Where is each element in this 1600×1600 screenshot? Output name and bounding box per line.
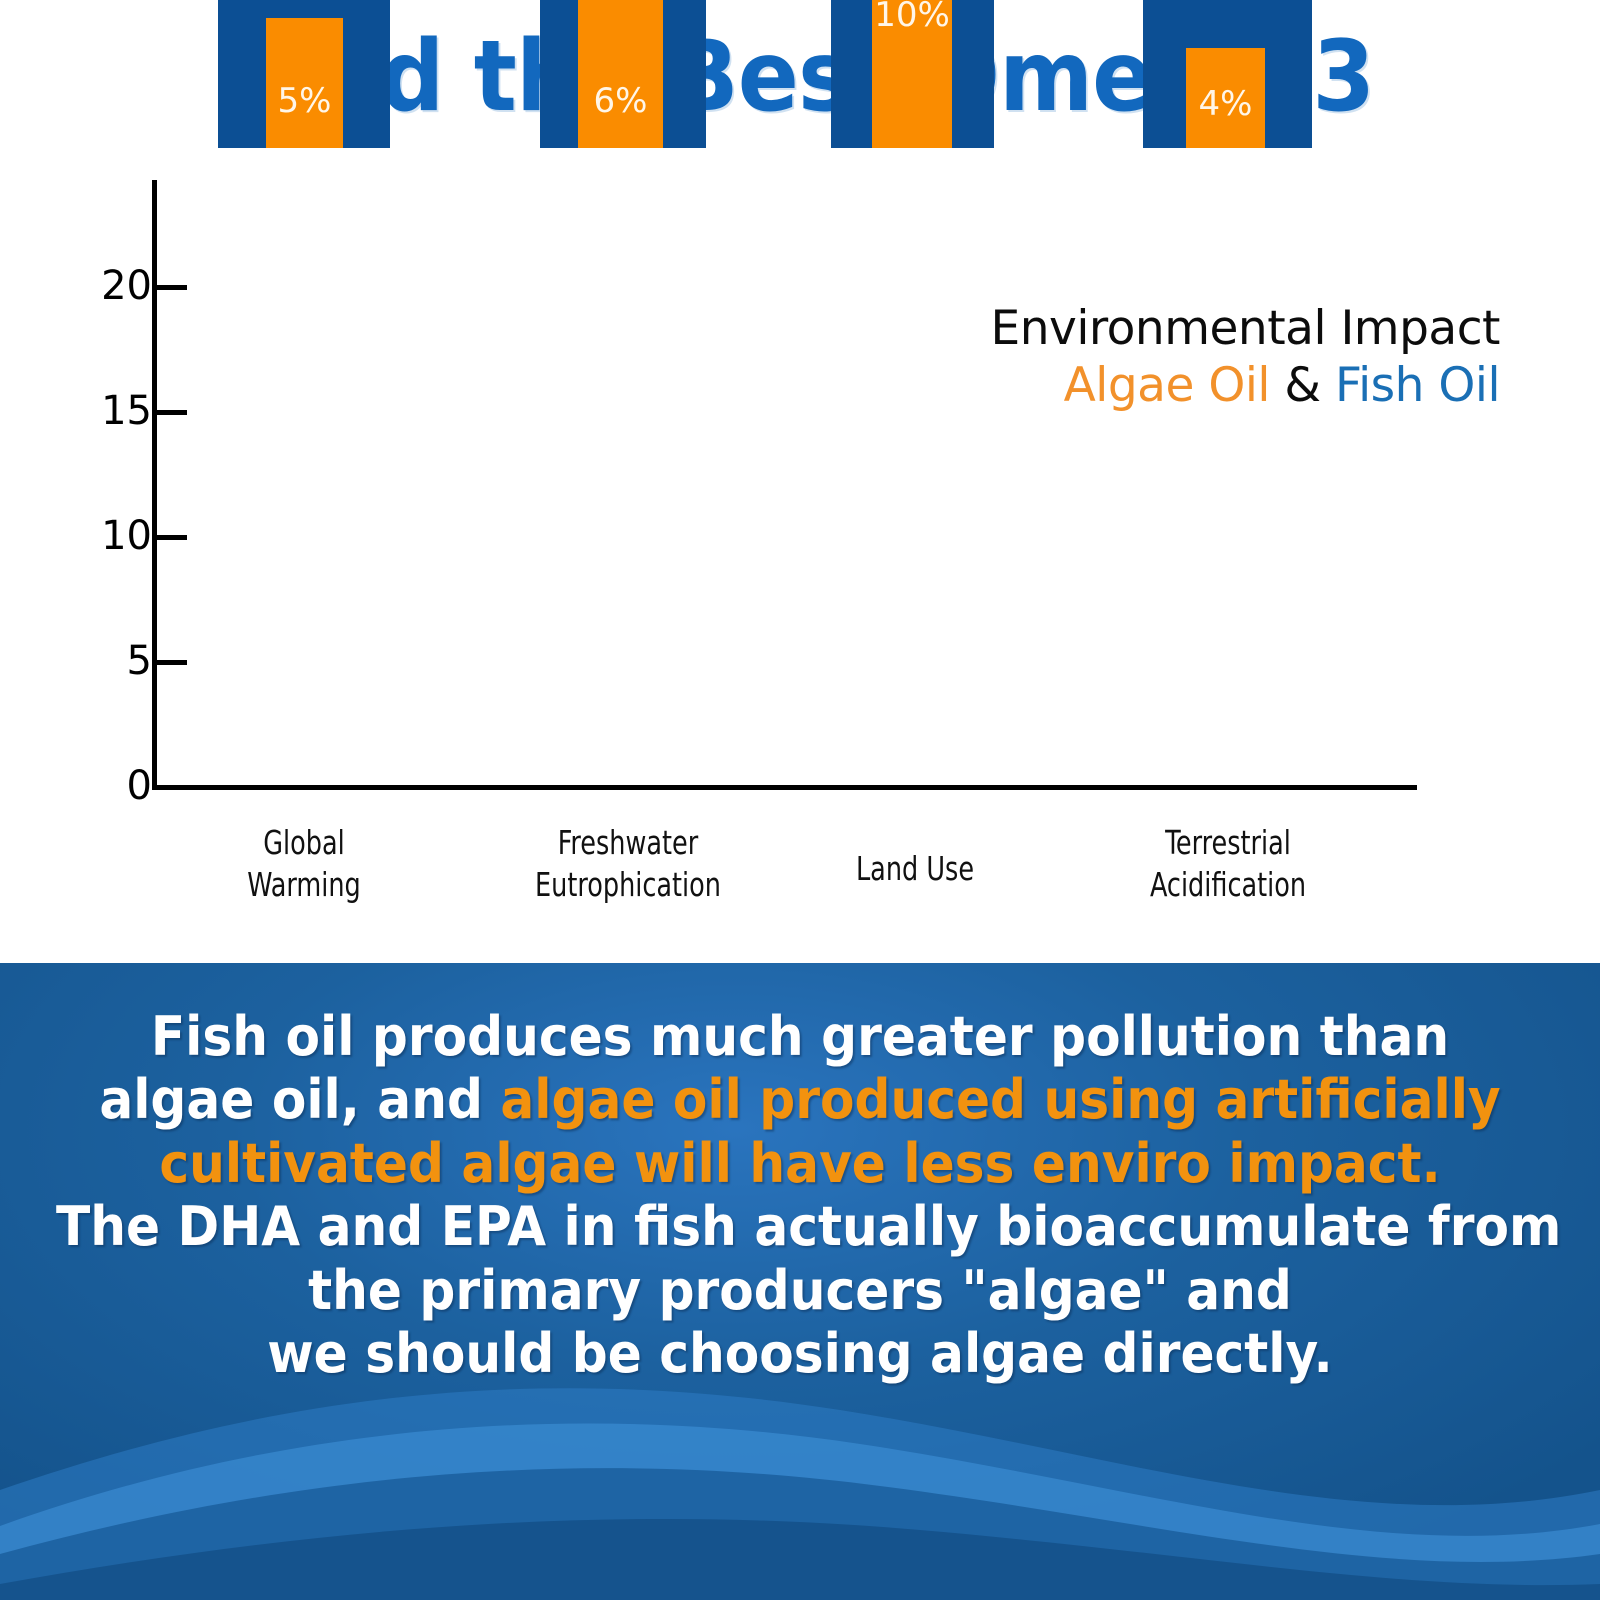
bar-value-algae-oil-global-warming: 5% [266, 81, 343, 121]
summary-line-3: cultivated algae will have less enviro i… [56, 1132, 1544, 1195]
legend-series-row: Algae Oil & Fish Oil [991, 357, 1500, 414]
summary-seg: algae oil, and [99, 1068, 500, 1131]
summary-seg: the primary producers "algae" and [308, 1259, 1292, 1322]
summary-text: Fish oil produces much greater pollution… [56, 1005, 1544, 1386]
legend-ampersand: & [1284, 358, 1320, 413]
x-axis-label-line2: Eutrophication [499, 864, 757, 906]
y-axis-label-0: 0 [82, 763, 152, 809]
x-axis-label-global-warming: Global Warming [192, 822, 416, 906]
summary-seg: The DHA and EPA in fish actually bioaccu… [56, 1195, 1561, 1258]
legend-item-fish-oil: Fish Oil [1335, 358, 1500, 413]
y-axis-label-5: 5 [82, 638, 152, 684]
legend-title: Environmental Impact [991, 300, 1500, 357]
x-axis-label-line1: Global [192, 822, 416, 864]
summary-seg-highlight: cultivated algae will have less enviro i… [159, 1132, 1440, 1195]
y-axis-label-20: 20 [82, 263, 152, 309]
y-tick-10 [155, 535, 187, 540]
bar-value-algae-oil-freshwater-eutrophication: 6% [578, 81, 663, 121]
x-axis-label-freshwater-eutrophication: Freshwater Eutrophication [499, 822, 757, 906]
summary-line-1: Fish oil produces much greater pollution… [56, 1005, 1544, 1068]
bar-algae-oil-freshwater-eutrophication[interactable]: 6% [578, 0, 663, 148]
infographic-root: Find the Best Omega-3 20 15 10 5 0 22% 5… [0, 0, 1600, 1600]
bar-algae-oil-terrestrial-acidification[interactable]: 4% [1186, 48, 1265, 148]
x-axis-label-line1: Land Use [808, 848, 1023, 890]
bar-value-algae-oil-terrestrial-acidification: 4% [1186, 84, 1265, 124]
summary-line-5: the primary producers "algae" and [56, 1259, 1544, 1322]
x-axis-label-line1: Freshwater [499, 822, 757, 864]
y-tick-5 [155, 660, 187, 665]
y-tick-20 [155, 285, 187, 290]
bar-algae-oil-land-use[interactable]: 10% [872, 0, 952, 148]
x-axis-label-line2: Warming [192, 864, 416, 906]
bar-algae-oil-global-warming[interactable]: 5% [266, 18, 343, 148]
summary-line-4: The DHA and EPA in fish actually bioaccu… [56, 1195, 1544, 1258]
x-axis-label-line2: Acidification [1116, 864, 1340, 906]
bar-chart: 20 15 10 5 0 22% 5% 15% 6% 22% [0, 0, 1600, 960]
summary-seg: we should be choosing algae directly. [267, 1322, 1332, 1385]
summary-line-6: we should be choosing algae directly. [56, 1322, 1544, 1385]
summary-seg-highlight: algae oil produced using artificially [500, 1068, 1500, 1131]
summary-panel: Fish oil produces much greater pollution… [0, 963, 1600, 1600]
y-axis-line [152, 180, 157, 790]
y-axis-label-10: 10 [82, 513, 152, 559]
y-tick-15 [155, 410, 187, 415]
x-axis-label-terrestrial-acidification: Terrestrial Acidification [1116, 822, 1340, 906]
legend-item-algae-oil: Algae Oil [1064, 358, 1270, 413]
x-axis-label-line1: Terrestrial [1116, 822, 1340, 864]
x-axis-label-land-use: Land Use [808, 848, 1023, 890]
bar-value-algae-oil-land-use: 10% [872, 0, 952, 35]
y-axis-label-15: 15 [82, 388, 152, 434]
summary-line-2: algae oil, and algae oil produced using … [56, 1068, 1544, 1131]
chart-legend: Environmental Impact Algae Oil & Fish Oi… [991, 300, 1500, 415]
x-axis-line [152, 785, 1417, 790]
summary-seg: Fish oil produces much greater pollution… [151, 1005, 1449, 1068]
